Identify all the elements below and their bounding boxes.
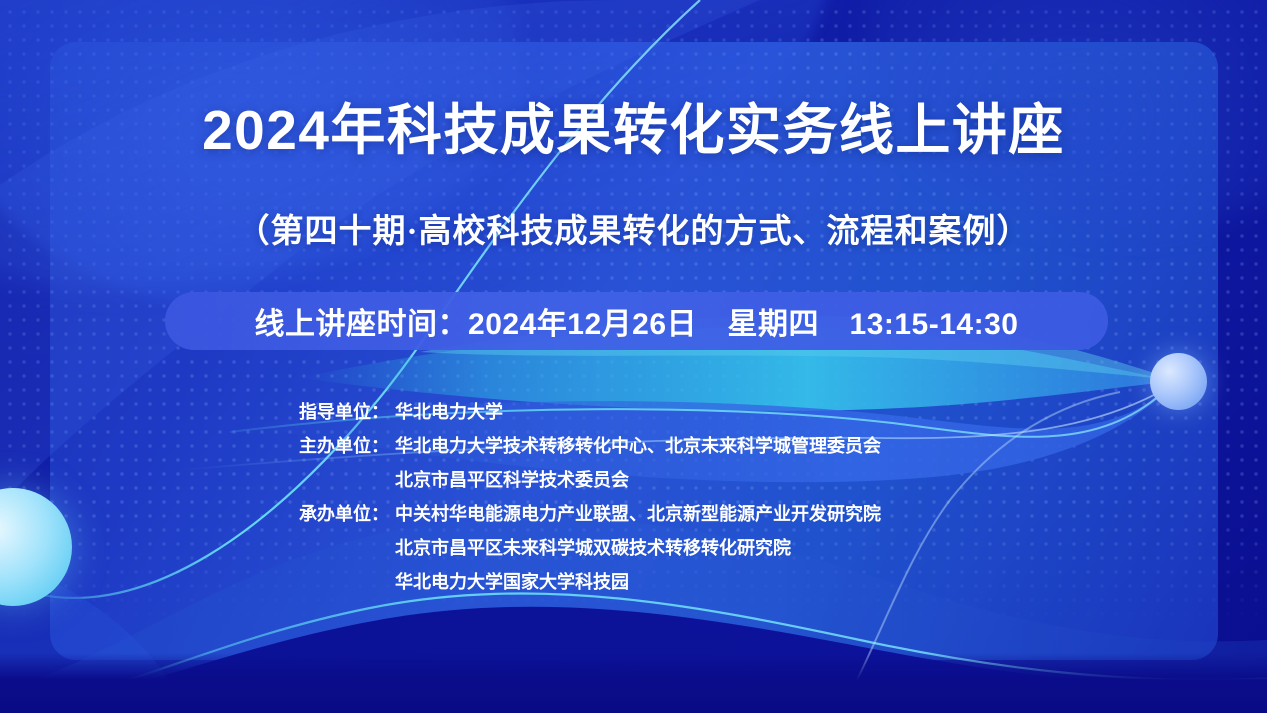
- org-label: 承办单位：: [0, 502, 389, 526]
- org-value: 华北电力大学: [389, 400, 503, 424]
- org-value: 华北电力大学国家大学科技园: [389, 570, 629, 594]
- list-item: 主办单位： 华北电力大学技术转移转化中心、北京未来科学城管理委员会: [0, 434, 1267, 458]
- list-item: 北京市昌平区未来科学城双碳技术转移转化研究院: [0, 536, 1267, 560]
- page-title: 2024年科技成果转化实务线上讲座: [0, 100, 1267, 161]
- list-item: 北京市昌平区科学技术委员会: [0, 468, 1267, 492]
- org-label: 主办单位：: [0, 434, 389, 458]
- list-item: 承办单位： 中关村华电能源电力产业联盟、北京新型能源产业开发研究院: [0, 502, 1267, 526]
- org-label: 指导单位：: [0, 400, 389, 424]
- page-subtitle: （第四十期·高校科技成果转化的方式、流程和案例）: [0, 204, 1267, 252]
- list-item: 华北电力大学国家大学科技园: [0, 570, 1267, 594]
- org-value: 中关村华电能源电力产业联盟、北京新型能源产业开发研究院: [389, 502, 881, 526]
- poster-canvas: 2024年科技成果转化实务线上讲座 （第四十期·高校科技成果转化的方式、流程和案…: [0, 0, 1267, 713]
- org-value: 北京市昌平区未来科学城双碳技术转移转化研究院: [389, 536, 791, 560]
- org-value: 北京市昌平区科学技术委员会: [389, 468, 629, 492]
- list-item: 指导单位： 华北电力大学: [0, 400, 1267, 424]
- organization-list: 指导单位： 华北电力大学 主办单位： 华北电力大学技术转移转化中心、北京未来科学…: [0, 400, 1267, 604]
- org-value: 华北电力大学技术转移转化中心、北京未来科学城管理委员会: [389, 434, 881, 458]
- lecture-time-text: 线上讲座时间：2024年12月26日 星期四 13:15-14:30: [165, 292, 1108, 350]
